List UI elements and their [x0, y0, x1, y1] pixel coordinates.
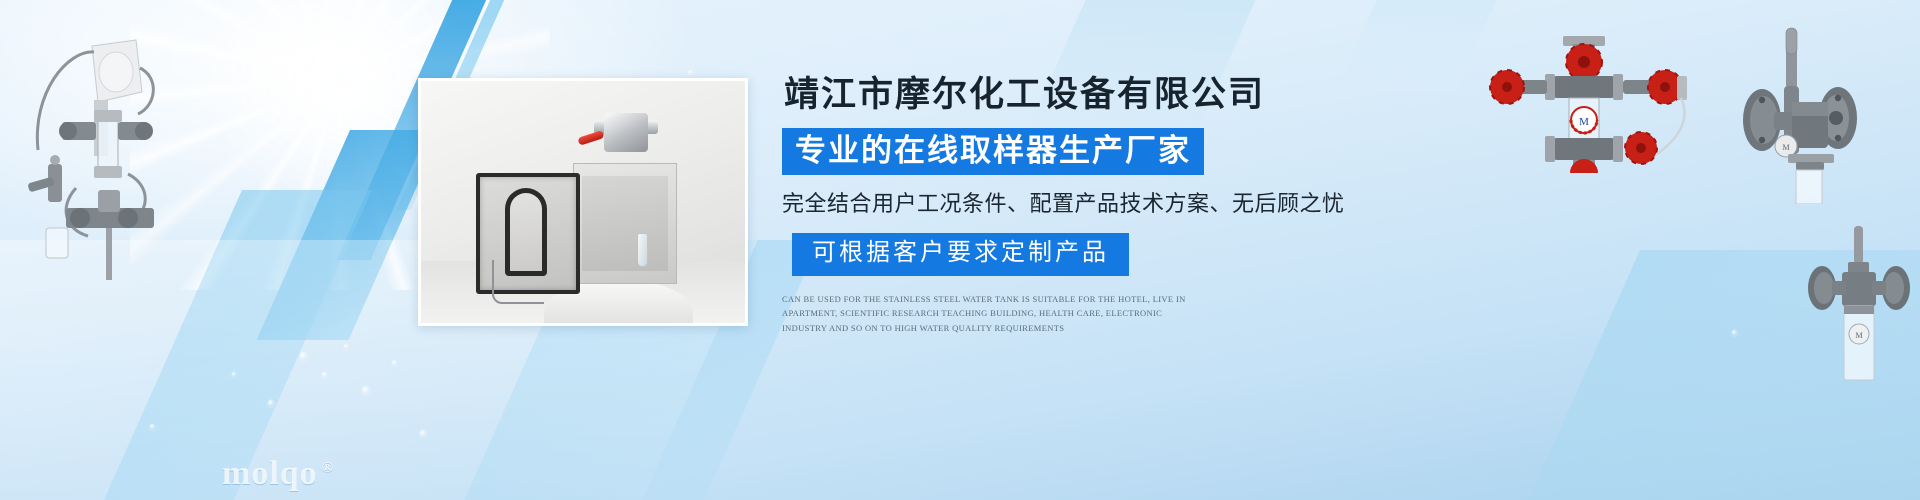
flange-right [1872, 266, 1910, 310]
seal-badge-icon: M [1775, 135, 1797, 157]
handwheel-right [1623, 70, 1687, 104]
watermark-text: molqo [222, 455, 318, 492]
brand-watermark: molqo® [222, 455, 334, 493]
handwheel-top [1566, 44, 1602, 80]
outlet-tube [1796, 170, 1822, 204]
relief-valve [27, 155, 62, 202]
banner-copy: 靖江市摩尔化工设备有限公司 专业的在线取样器生产厂家 完全结合用户工况条件、配置… [776, 74, 1416, 336]
center-product-photo[interactable] [418, 78, 748, 326]
svg-text:M: M [1855, 331, 1862, 340]
body-center [1842, 272, 1876, 306]
stem-top [1848, 226, 1869, 274]
lower-assembly [1545, 132, 1657, 173]
brand-seal-icon: M [1571, 107, 1597, 133]
valve-body [1792, 102, 1828, 148]
svg-text:M: M [1579, 116, 1589, 128]
english-caption: CAN BE USED FOR THE STAINLESS STEEL WATE… [782, 292, 1202, 337]
mounting-bracket [1788, 154, 1834, 170]
sight-glass [94, 110, 122, 178]
right-product-cross-sampler: M [1485, 28, 1695, 173]
company-name: 靖江市摩尔化工设备有限公司 [776, 74, 1416, 116]
upper-assembly [1545, 36, 1623, 100]
headline-badge: 专业的在线取样器生产厂家 [782, 128, 1204, 175]
sub-headline: 完全结合用户工况条件、配置产品技术方案、无后顾之忧 [782, 190, 1416, 218]
sample-bottle [46, 228, 68, 258]
custom-order-badge[interactable]: 可根据客户要求定制产品 [792, 233, 1129, 276]
promo-banner: 靖江市摩尔化工设备有限公司 专业的在线取样器生产厂家 完全结合用户工况条件、配置… [0, 0, 1920, 500]
seal-badge-icon: M [1849, 324, 1869, 344]
flange-left [1808, 266, 1846, 310]
svg-text:M: M [1782, 143, 1789, 152]
registered-mark-icon: ® [322, 460, 334, 476]
left-product-sampling-system [10, 22, 170, 282]
valve-block-lower [66, 190, 154, 228]
right-product-lever-valve: M [1700, 24, 1900, 204]
right-product-vertical-sampler: M [1800, 226, 1920, 406]
handwheel-left [1490, 70, 1547, 104]
